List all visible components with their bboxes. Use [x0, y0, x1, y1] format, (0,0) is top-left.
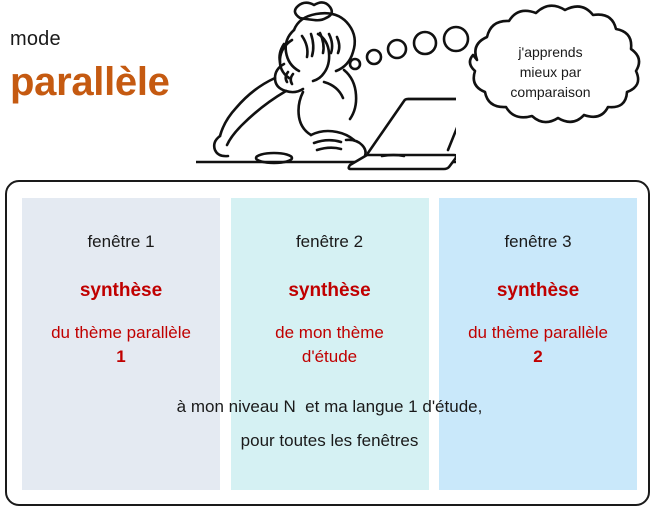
synthesis-label-2: synthèse	[231, 279, 429, 303]
window-description-number-3: 2	[533, 347, 542, 366]
window-label-1: fenêtre 1	[22, 231, 220, 253]
window-description-number-2: d'étude	[302, 347, 357, 366]
thought-bubble-cloud-icon	[444, 2, 657, 137]
thought-bubble: j'apprends mieux par comparaison	[444, 2, 657, 137]
window-description-2: de mon thème d'étude	[231, 321, 429, 369]
slide-root: mode parallèle	[0, 0, 657, 515]
synthesis-label-1: synthèse	[22, 279, 220, 303]
window-description-3: du thème parallèle 2	[439, 321, 637, 369]
window-description-text-3: du thème parallèle	[468, 323, 608, 342]
window-description-1: du thème parallèle 1	[22, 321, 220, 369]
mode-label: mode	[10, 26, 220, 52]
parallel-mode-frame: fenêtre 1 synthèse du thème parallèle 1 …	[5, 180, 650, 506]
window-column-1[interactable]: fenêtre 1 synthèse du thème parallèle 1	[22, 198, 220, 490]
window-description-text-2: de mon thème	[275, 323, 384, 342]
window-description-text-1: du thème parallèle	[51, 323, 191, 342]
synthesis-label-3: synthèse	[439, 279, 637, 303]
window-label-2: fenêtre 2	[231, 231, 429, 253]
window-description-number-1: 1	[116, 347, 125, 366]
header-title-block: mode parallèle	[10, 26, 220, 106]
window-column-3[interactable]: fenêtre 3 synthèse du thème parallèle 2	[439, 198, 637, 490]
window-column-2[interactable]: fenêtre 2 synthèse de mon thème d'étude	[231, 198, 429, 490]
window-label-3: fenêtre 3	[439, 231, 637, 253]
mode-title: parallèle	[10, 58, 220, 106]
window-columns: fenêtre 1 synthèse du thème parallèle 1 …	[22, 198, 637, 490]
